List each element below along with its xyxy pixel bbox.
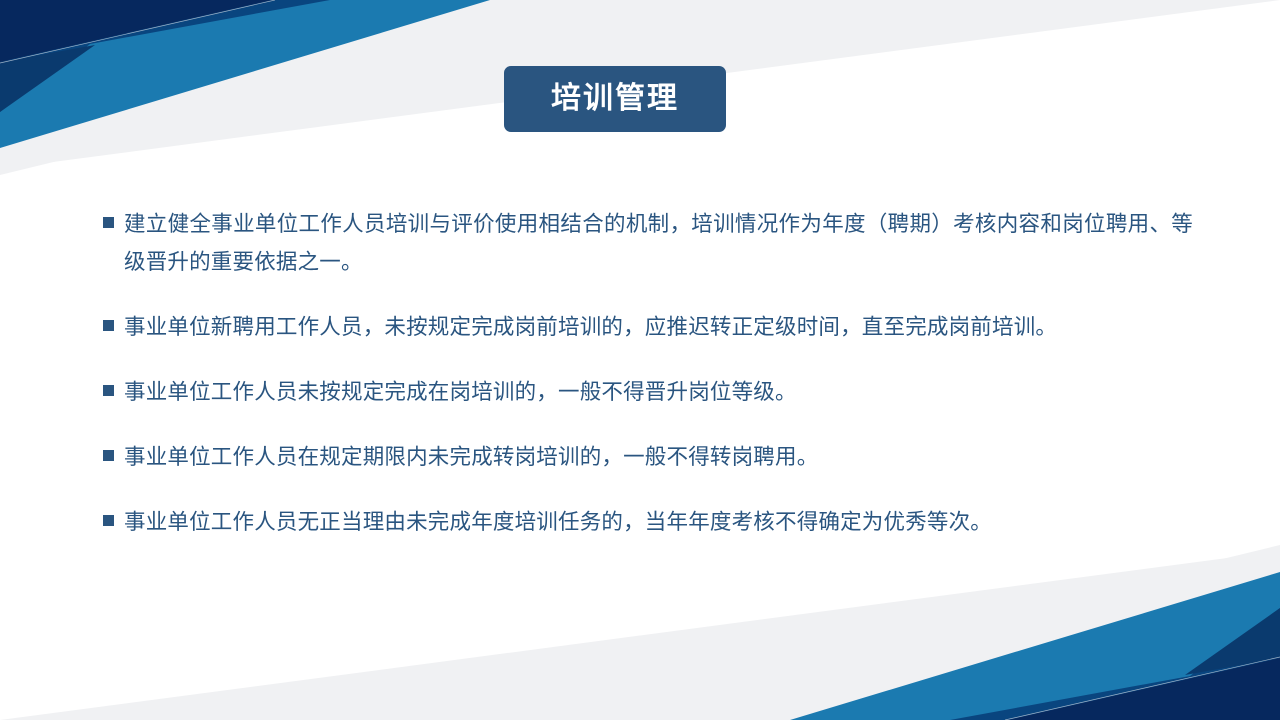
deco-shape-medium-blue-top [0,0,330,112]
bullet-square-icon [103,320,114,331]
deco-shape-steel-blue-bottom [790,572,1280,720]
deco-shape-medium-blue-bottom [950,608,1280,720]
bullet-square-icon [103,385,114,396]
bullet-square-icon [103,450,114,461]
deco-shape-steel-blue-top [0,0,490,148]
deco-shape-dark-navy-top [0,0,272,62]
bullet-square-icon [103,515,114,526]
bullet-list: 建立健全事业单位工作人员培训与评价使用相结合的机制，培训情况作为年度（聘期）考核… [103,206,1193,569]
list-item: 事业单位工作人员未按规定完成在岗培训的，一般不得晋升岗位等级。 [103,374,1193,412]
list-item: 事业单位新聘用工作人员，未按规定完成岗前培训的，应推迟转正定级时间，直至完成岗前… [103,309,1193,347]
page-title: 培训管理 [551,84,679,114]
bullet-square-icon [103,217,114,228]
deco-shape-gray-sweep-bottom [0,552,1280,720]
list-item: 事业单位工作人员无正当理由未完成年度培训任务的，当年年度考核不得确定为优秀等次。 [103,504,1193,542]
list-item-text: 事业单位工作人员在规定期限内未完成转岗培训的，一般不得转岗聘用。 [124,439,1193,477]
list-item-text: 事业单位工作人员未按规定完成在岗培训的，一般不得晋升岗位等级。 [124,374,1193,412]
page-title-box: 培训管理 [504,66,726,132]
deco-shape-navy-top [0,45,95,112]
list-item-text: 事业单位工作人员无正当理由未完成年度培训任务的，当年年度考核不得确定为优秀等次。 [124,504,1193,542]
deco-shape-navy-bottom [1185,608,1280,675]
list-item-text: 建立健全事业单位工作人员培训与评价使用相结合的机制，培训情况作为年度（聘期）考核… [124,206,1193,282]
deco-seam-line-top [0,0,275,63]
deco-seam-line-bottom [1005,657,1280,720]
list-item: 建立健全事业单位工作人员培训与评价使用相结合的机制，培训情况作为年度（聘期）考核… [103,206,1193,282]
list-item: 事业单位工作人员在规定期限内未完成转岗培训的，一般不得转岗聘用。 [103,439,1193,477]
slide-canvas: 培训管理 建立健全事业单位工作人员培训与评价使用相结合的机制，培训情况作为年度（… [0,0,1280,720]
deco-shape-dark-navy-bottom [1008,658,1280,720]
list-item-text: 事业单位新聘用工作人员，未按规定完成岗前培训的，应推迟转正定级时间，直至完成岗前… [124,309,1193,347]
deco-shape-gray-band-bottom [560,545,1280,720]
